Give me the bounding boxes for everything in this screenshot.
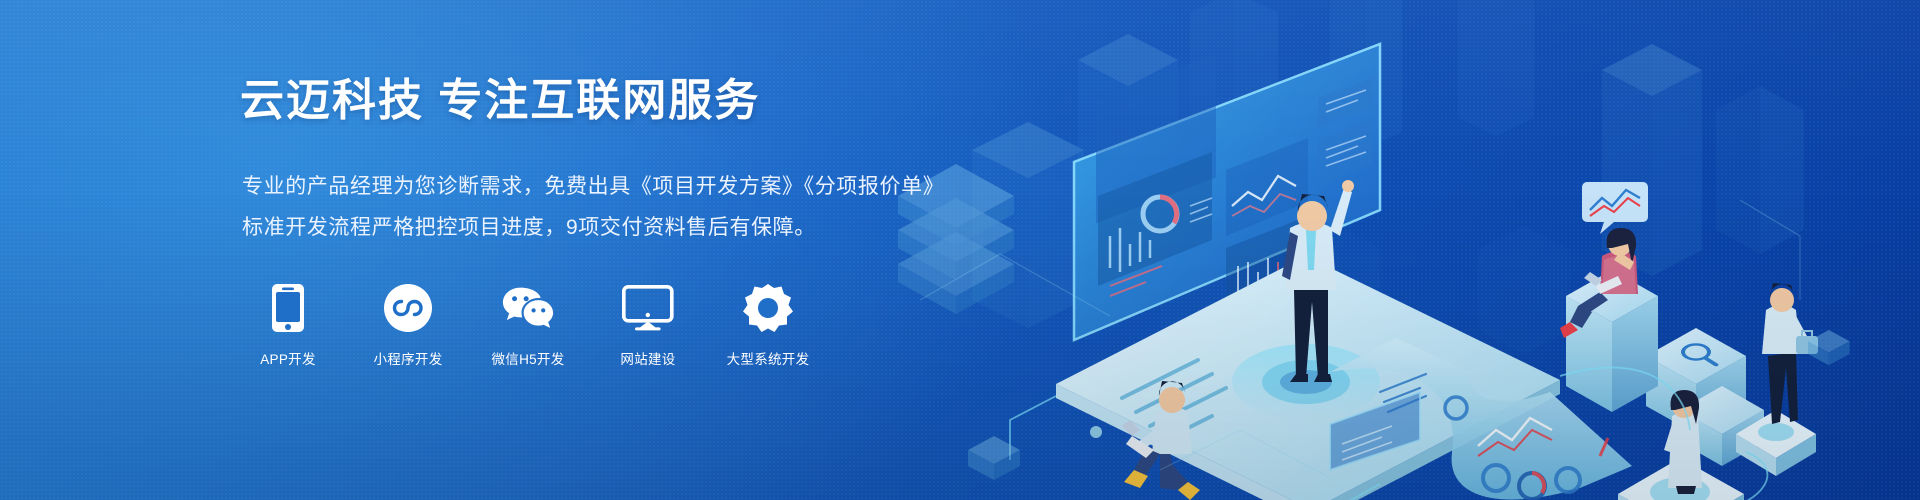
wechat-icon [502,282,554,334]
page-title: 云迈科技 专注互联网服务 [240,74,760,128]
service-list: APP开发 小程序开发 [240,282,816,368]
mobile-phone-icon [262,282,314,334]
service-label-website: 网站建设 [620,348,675,368]
gear-icon [742,282,794,334]
hero-banner: 云迈科技 专注互联网服务 专业的产品经理为您诊断需求，免费出具《项目开发方案》《… [0,0,1920,500]
subtitle-line-1: 专业的产品经理为您诊断需求，免费出具《项目开发方案》《分项报价单》 [242,172,944,202]
service-label-mini-program: 小程序开发 [374,348,443,368]
monitor-icon [622,282,674,334]
service-item-mini-program[interactable]: 小程序开发 [360,282,456,368]
service-item-wechat[interactable]: 微信H5开发 [480,282,576,368]
service-item-system[interactable]: 大型系统开发 [720,282,816,368]
mini-program-icon [382,282,434,334]
service-item-app[interactable]: APP开发 [240,282,336,368]
service-label-system: 大型系统开发 [727,348,810,368]
banner-copy: 云迈科技 专注互联网服务 专业的产品经理为您诊断需求，免费出具《项目开发方案》《… [240,0,1000,500]
service-label-wechat: 微信H5开发 [491,348,564,368]
service-item-website[interactable]: 网站建设 [600,282,696,368]
isometric-illustration [860,0,1920,500]
service-label-app: APP开发 [260,348,316,368]
subtitle-line-2: 标准开发流程严格把控项目进度，9项交付资料售后有保障。 [242,213,816,243]
